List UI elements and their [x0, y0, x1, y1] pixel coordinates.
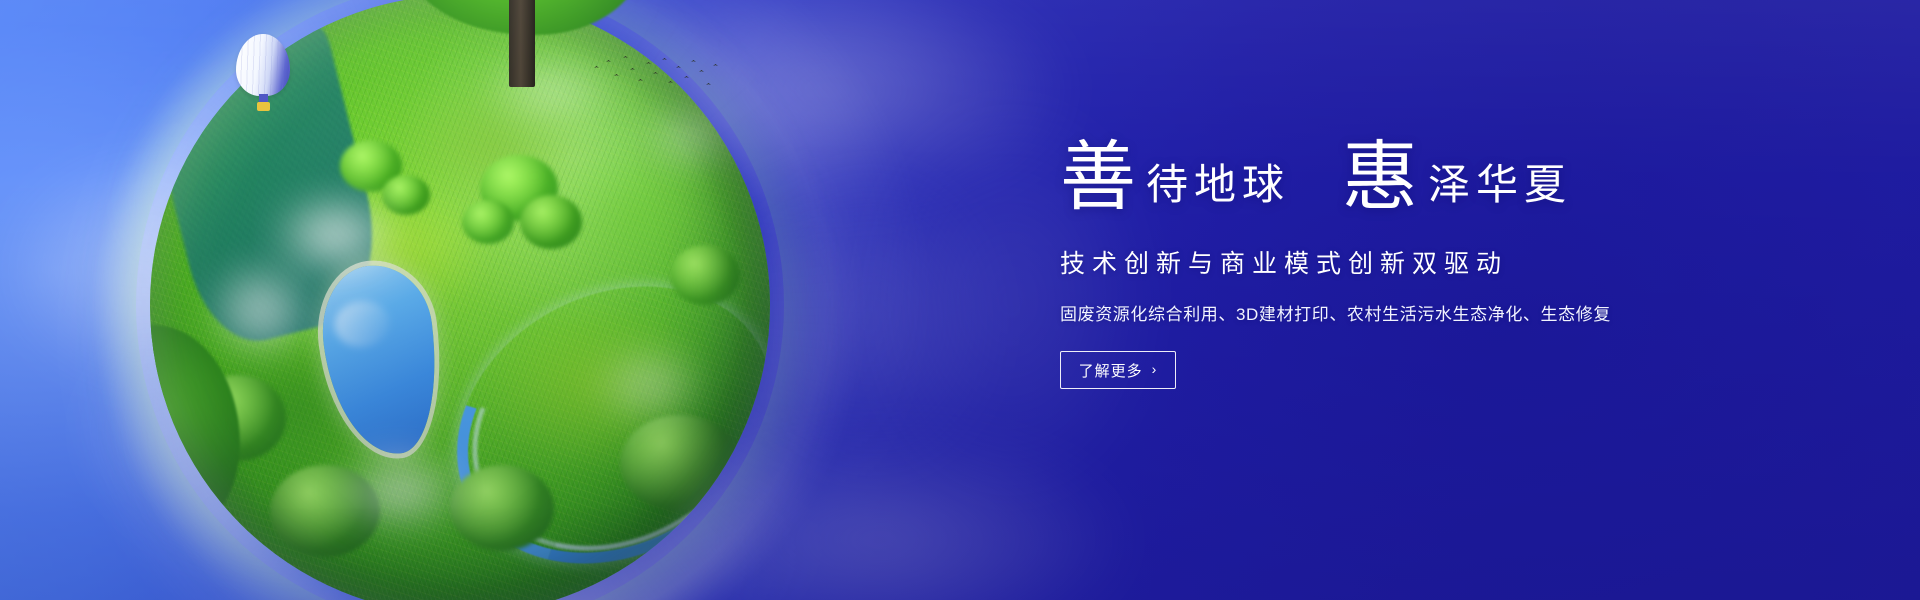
learn-more-button[interactable]: 了解更多 ›	[1060, 351, 1176, 389]
headline-char-primary-1: 善	[1060, 140, 1136, 216]
chevron-right-icon: ›	[1152, 362, 1158, 376]
headline-char-primary-2: 惠	[1342, 140, 1418, 216]
subtitle: 技术创新与商业模式创新双驱动	[1060, 244, 1820, 280]
headline-text-1: 待地球	[1146, 165, 1290, 207]
headline: 善 待地球 惠 泽华夏	[1060, 140, 1820, 216]
hero-banner: 善 待地球 惠 泽华夏 技术创新与商业模式创新双驱动 固废资源化综合利用、3D建…	[0, 0, 1920, 600]
headline-text-2: 泽华夏	[1428, 165, 1572, 207]
learn-more-label: 了解更多	[1079, 360, 1143, 381]
hero-content: 善 待地球 惠 泽华夏 技术创新与商业模式创新双驱动 固废资源化综合利用、3D建…	[1060, 140, 1820, 389]
description: 固废资源化综合利用、3D建材打印、农村生活污水生态净化、生态修复	[1060, 300, 1820, 325]
